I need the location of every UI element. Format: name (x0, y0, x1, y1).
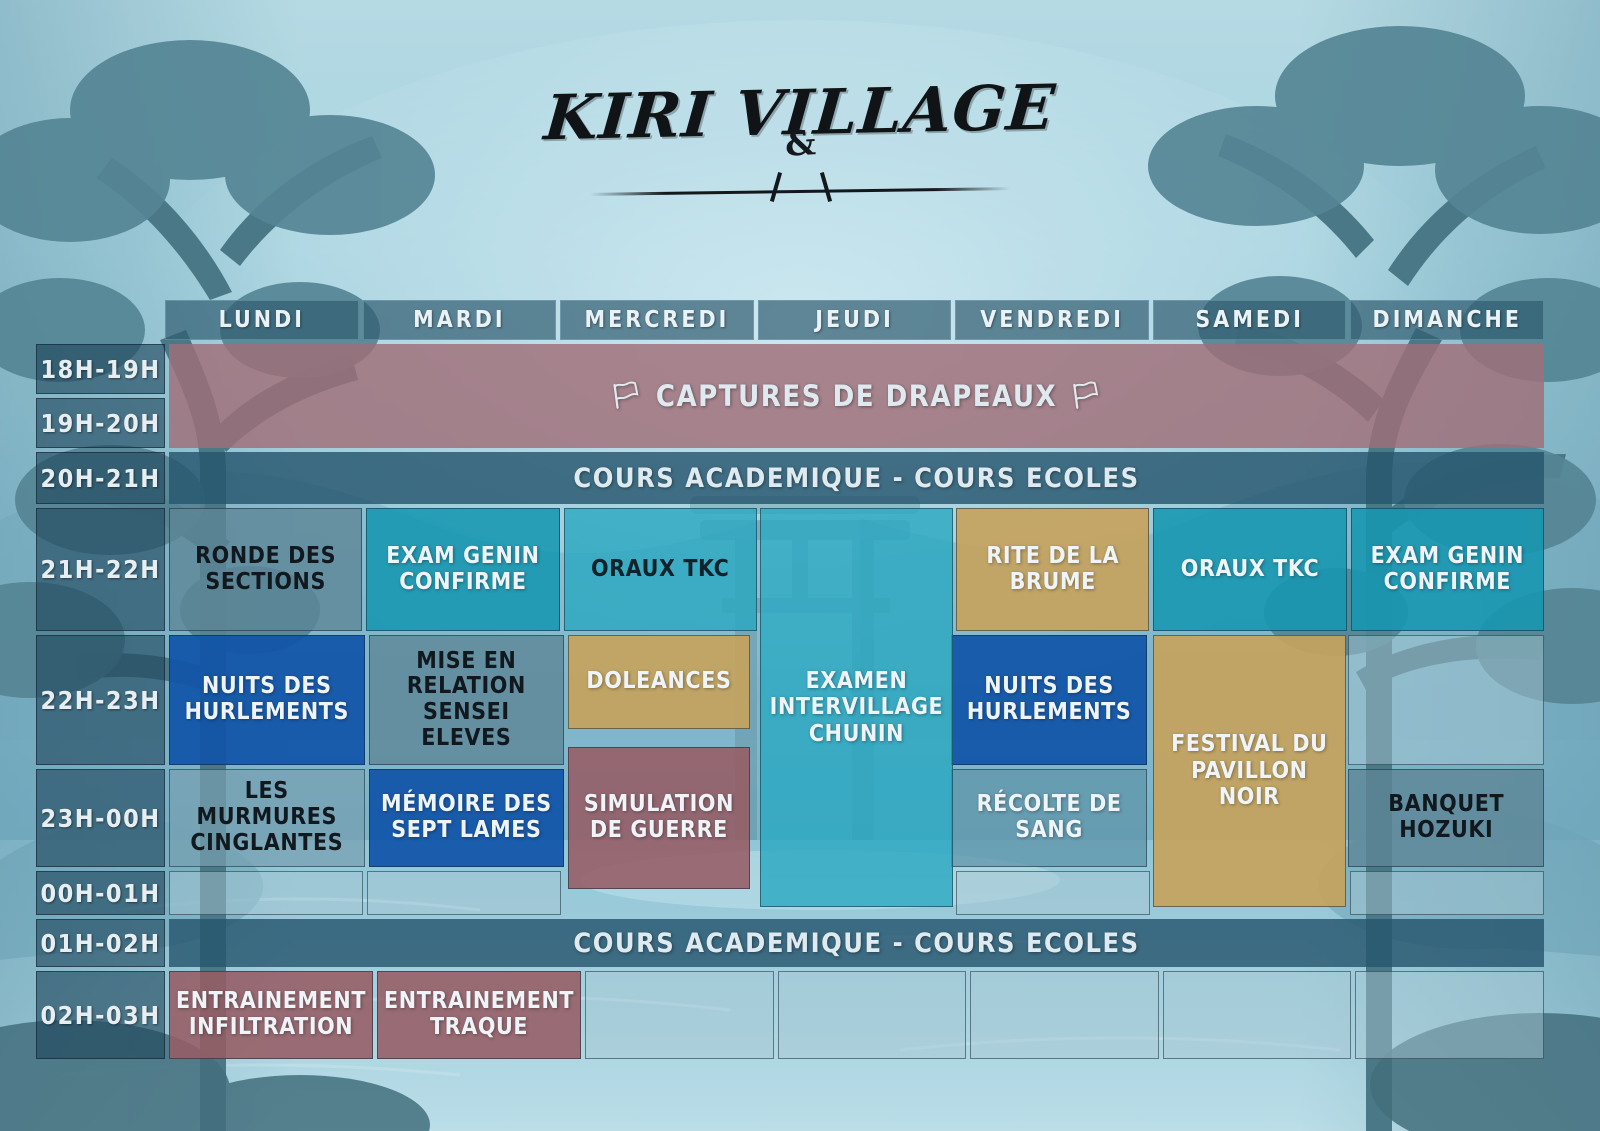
schedule-body: 21H-22H 22H-23H 23H-00H 00H-01H RONDE DE… (36, 508, 1544, 915)
event-ronde-des-sections[interactable]: RONDE DES SECTIONS (169, 508, 362, 631)
event-les-murmures-cinglantes[interactable]: LES MURMURES CINGLANTES (169, 769, 365, 867)
event-doleances-wrap: DOLEANCES (568, 635, 750, 765)
time-label-21h-22h: 21H-22H (36, 508, 165, 631)
event-doleances[interactable]: DOLEANCES (568, 635, 750, 729)
time-label-02h-03h: 02H-03H (36, 971, 165, 1059)
event-recolte-de-sang[interactable]: RÉCOLTE DE SANG (951, 769, 1147, 867)
event-cells-area: RONDE DES SECTIONS EXAM GENIN CONFIRME O… (169, 508, 1544, 915)
event-festival-du-pavillon-noir[interactable]: FESTIVAL DU PAVILLON NOIR (1153, 635, 1345, 907)
event-simulation-de-guerre-wrap: SIMULATION DE GUERRE (568, 769, 750, 867)
event-empty-lundi-00h[interactable] (169, 871, 363, 915)
event-captures-de-drapeaux[interactable]: 🏳 CAPTURES DE DRAPEAUX 🏳 (169, 344, 1544, 448)
event-label: CAPTURES DE DRAPEAUX (656, 379, 1057, 413)
day-header-row: LUNDI MARDI MERCREDI JEUDI VENDREDI SAME… (165, 300, 1544, 340)
time-label-00h-01h: 00H-01H (36, 871, 165, 915)
event-row-02h-03h: ENTRAINEMENT INFILTRATION ENTRAINEMENT T… (169, 971, 1544, 1059)
event-mise-en-relation-sensei-eleves[interactable]: MISE EN RELATION SENSEI ELEVES (369, 635, 565, 765)
event-oraux-tkc-samedi[interactable]: ORAUX TKC (1153, 508, 1346, 631)
event-cells-area-02h: ENTRAINEMENT INFILTRATION ENTRAINEMENT T… (169, 971, 1544, 1059)
day-header-vendredi[interactable]: VENDREDI (955, 300, 1149, 340)
event-empty-mercredi-02h[interactable] (585, 971, 774, 1059)
event-empty-mardi-00h[interactable] (367, 871, 561, 915)
schedule-row-01h-02h: 01H-02H COURS ACADEMIQUE - COURS ECOLES (36, 919, 1544, 967)
event-empty-dimanche-00h[interactable] (1350, 871, 1544, 915)
day-header-lundi[interactable]: LUNDI (165, 300, 359, 340)
schedule-row-20h-21h: 20H-21H COURS ACADEMIQUE - COURS ECOLES (36, 452, 1544, 504)
event-oraux-tkc-mercredi[interactable]: ORAUX TKC (564, 508, 757, 631)
logo-tick-marks (740, 172, 860, 206)
time-label-23h-00h: 23H-00H (36, 769, 165, 867)
event-nuits-des-hurlements-lundi[interactable]: NUITS DES HURLEMENTS (169, 635, 365, 765)
time-label-20h-21h: 20H-21H (36, 452, 165, 504)
event-entrainement-traque[interactable]: ENTRAINEMENT TRAQUE (377, 971, 581, 1059)
weekly-schedule: LUNDI MARDI MERCREDI JEUDI VENDREDI SAME… (36, 300, 1544, 1059)
logo-ampersand: & (784, 123, 817, 165)
event-nuits-des-hurlements-vendredi[interactable]: NUITS DES HURLEMENTS (951, 635, 1147, 765)
schedule-row-02h-03h: 02H-03H ENTRAINEMENT INFILTRATION ENTRAI… (36, 971, 1544, 1059)
day-header-samedi[interactable]: SAMEDI (1153, 300, 1347, 340)
schedule-row-18h-20h: 18H-19H 19H-20H 🏳 CAPTURES DE DRAPEAUX 🏳 (36, 344, 1544, 448)
time-label-19h-20h: 19H-20H (36, 398, 165, 448)
event-simulation-de-guerre[interactable]: SIMULATION DE GUERRE (568, 747, 750, 889)
event-empty-dimanche-22h[interactable] (1348, 635, 1544, 765)
day-header-jeudi[interactable]: JEUDI (758, 300, 952, 340)
time-label-01h-02h: 01H-02H (36, 919, 165, 967)
span-placeholder-mercredi (565, 871, 757, 915)
time-column: 21H-22H 22H-23H 23H-00H 00H-01H (36, 508, 165, 915)
time-label-18h-19h: 18H-19H (36, 344, 165, 394)
event-empty-samedi-02h[interactable] (1163, 971, 1352, 1059)
day-header-mercredi[interactable]: MERCREDI (560, 300, 754, 340)
event-rite-de-la-brume[interactable]: RITE DE LA BRUME (956, 508, 1149, 631)
event-examen-intervillage-chunin[interactable]: EXAMEN INTERVILLAGE CHUNIN (760, 508, 952, 907)
event-cours-academique-2[interactable]: COURS ACADEMIQUE - COURS ECOLES (169, 919, 1544, 967)
event-banquet-hozuki[interactable]: BANQUET HOZUKI (1348, 769, 1544, 867)
event-exam-genin-confirme-dimanche[interactable]: EXAM GENIN CONFIRME (1351, 508, 1544, 631)
event-exam-genin-confirme[interactable]: EXAM GENIN CONFIRME (366, 508, 559, 631)
event-empty-vendredi-02h[interactable] (970, 971, 1159, 1059)
flag-icon: 🏳 (1069, 381, 1104, 411)
event-memoire-des-sept-lames[interactable]: MÉMOIRE DES SEPT LAMES (369, 769, 565, 867)
event-cours-academique-1[interactable]: COURS ACADEMIQUE - COURS ECOLES (169, 452, 1544, 504)
day-header-mardi[interactable]: MARDI (363, 300, 557, 340)
flag-icon: 🏳 (609, 381, 644, 411)
brand-logo: KIRI VILLAGE & (0, 82, 1600, 206)
time-label-22h-23h: 22H-23H (36, 635, 165, 765)
event-empty-dimanche-02h[interactable] (1355, 971, 1544, 1059)
day-header-dimanche[interactable]: DIMANCHE (1350, 300, 1544, 340)
event-entrainement-infiltration[interactable]: ENTRAINEMENT INFILTRATION (169, 971, 373, 1059)
event-empty-vendredi-00h[interactable] (956, 871, 1150, 915)
event-empty-jeudi-02h[interactable] (778, 971, 967, 1059)
